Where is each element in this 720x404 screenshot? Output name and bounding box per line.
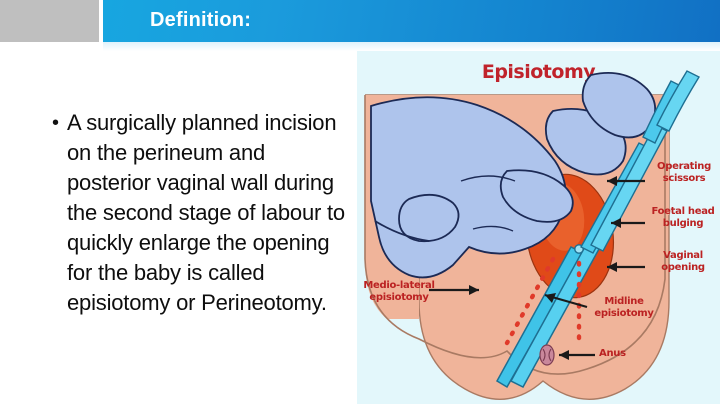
header-underglow [103, 42, 720, 51]
bullet-marker-icon: • [52, 108, 59, 138]
label-foetal-head-bulging: Foetal head bulging [647, 206, 719, 230]
label-midline-line2: episiotomy [585, 308, 663, 320]
label-foetal-head-line1: Foetal head [647, 206, 719, 218]
definition-paragraph: A surgically planned incision on the per… [67, 108, 352, 318]
label-medio-lateral-line1: Medio-lateral [363, 280, 435, 292]
label-operating-scissors-line1: Operating [649, 161, 719, 173]
label-midline-episiotomy: Midline episiotomy [585, 296, 663, 320]
label-vaginal-opening: Vaginal opening [649, 250, 717, 274]
label-medio-lateral-line2: episiotomy [363, 292, 435, 304]
label-anus-line1: Anus [599, 348, 626, 360]
label-midline-line1: Midline [585, 296, 663, 308]
label-vaginal-opening-line2: opening [649, 262, 717, 274]
bullet-list-item: • A surgically planned incision on the p… [52, 108, 352, 318]
slide-canvas: Definition: • A surgically planned incis… [0, 0, 720, 404]
episiotomy-illustration-panel: Episiotomy [357, 51, 720, 404]
anus-marker [540, 345, 554, 365]
label-operating-scissors-line2: scissors [649, 173, 719, 185]
header-gray-block [0, 0, 99, 42]
page-title: Definition: [150, 9, 251, 32]
label-foetal-head-line2: bulging [647, 218, 719, 230]
label-medio-lateral-episiotomy: Medio-lateral episiotomy [363, 280, 435, 304]
label-operating-scissors: Operating scissors [649, 161, 719, 185]
definition-text-block: • A surgically planned incision on the p… [52, 108, 352, 318]
label-vaginal-opening-line1: Vaginal [649, 250, 717, 262]
label-anus: Anus [599, 348, 626, 360]
slide-header: Definition: [0, 0, 720, 42]
